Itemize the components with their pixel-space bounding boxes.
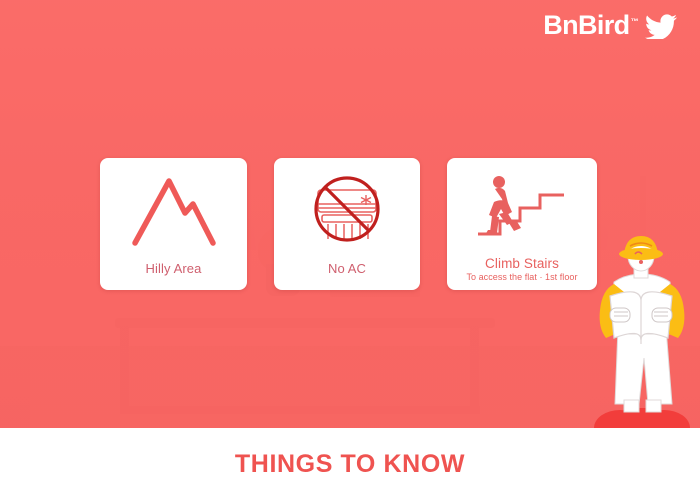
brand-logo[interactable]: BnBird™ [543, 12, 678, 39]
no-ac-icon [304, 171, 390, 249]
card-sublabel: To access the flat · 1st floor [466, 272, 577, 290]
card-label: Climb Stairs [485, 256, 559, 272]
card-icon-wrap [100, 158, 247, 261]
card-label: No AC [328, 261, 366, 290]
mountain-icon [129, 173, 219, 247]
hero-panel: BnBird™ Hilly Area [0, 0, 700, 428]
card-hilly-area[interactable]: Hilly Area [100, 158, 247, 290]
card-label: Hilly Area [146, 261, 202, 290]
card-climb-stairs[interactable]: Climb Stairs To access the flat · 1st fl… [447, 158, 597, 290]
brand-trademark: ™ [631, 17, 638, 26]
card-no-ac[interactable]: No AC [274, 158, 420, 290]
climb-stairs-icon [470, 174, 574, 240]
person-reading-icon [580, 232, 700, 428]
card-icon-wrap [447, 158, 597, 256]
footer-bar: THINGS TO KNOW [0, 428, 700, 500]
card-icon-wrap [274, 158, 420, 261]
footer-title: THINGS TO KNOW [235, 450, 465, 479]
info-card-list: Hilly Area [100, 158, 600, 290]
brand-name: BnBird™ [543, 12, 638, 39]
brand-name-text: BnBird [543, 10, 629, 40]
bird-icon [644, 13, 678, 39]
slide-root: BnBird™ Hilly Area [0, 0, 700, 500]
